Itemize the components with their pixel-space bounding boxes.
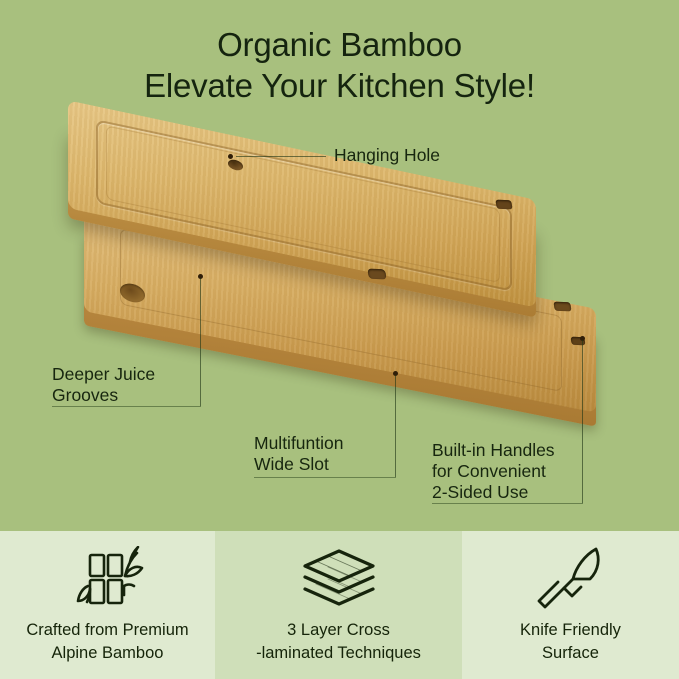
feature-crafted-alpine-bamboo: Crafted from Premium Alpine Bamboo <box>0 531 215 679</box>
chef-knife-icon <box>532 546 610 612</box>
lower-board-handle-notch-top <box>553 302 571 312</box>
callout-deeper-juice-grooves: Deeper Juice Grooves <box>52 364 155 406</box>
callout-hanging-hole: Hanging Hole <box>334 145 440 166</box>
hero-section: Organic Bamboo Elevate Your Kitchen Styl… <box>0 0 679 531</box>
callout-multifunction-wide-slot: Multifuntion Wide Slot <box>254 433 344 475</box>
product-infographic: Organic Bamboo Elevate Your Kitchen Styl… <box>0 0 679 679</box>
layers-stack-icon <box>298 546 380 612</box>
bamboo-stalks-icon <box>69 546 147 612</box>
feature-cross-laminated: 3 Layer Cross -laminated Techniques <box>215 531 462 679</box>
callout-built-in-handles: Built-in Handles for Convenient 2-Sided … <box>432 440 555 503</box>
feature-label-knife-friendly: Knife Friendly Surface <box>520 619 621 665</box>
built-in-handles-leader-line <box>582 340 583 503</box>
hanging-hole-leader-line <box>236 156 326 157</box>
upper-board-handle-notch-right <box>495 200 512 210</box>
feature-label-cross-laminated: 3 Layer Cross -laminated Techniques <box>256 619 421 665</box>
feature-strip: Crafted from Premium Alpine Bamboo 3 Lay… <box>0 531 679 679</box>
wide-slot-leader-line <box>395 375 396 477</box>
feature-knife-friendly: Knife Friendly Surface <box>462 531 679 679</box>
built-in-handles-underline <box>432 503 583 504</box>
upper-cutting-board <box>68 150 536 296</box>
juice-grooves-underline <box>52 406 201 407</box>
upper-board-wide-slot <box>367 269 386 280</box>
wide-slot-underline <box>254 477 396 478</box>
hanging-hole-leader-dot <box>228 154 233 159</box>
feature-label-crafted-alpine-bamboo: Crafted from Premium Alpine Bamboo <box>26 619 188 665</box>
juice-grooves-leader-line <box>200 278 201 406</box>
upper-board-surface <box>68 100 536 307</box>
